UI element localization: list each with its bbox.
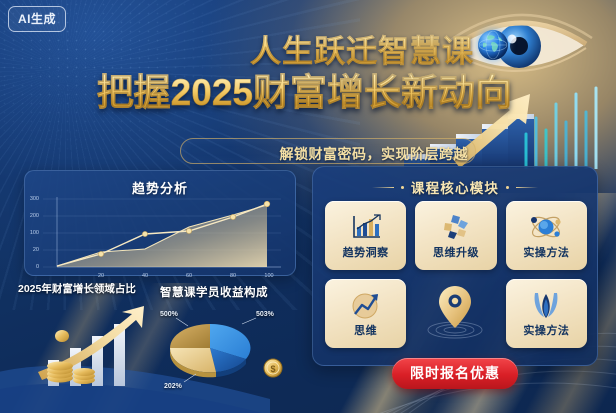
trend-analysis-panel: 趋势分析 <box>24 170 296 276</box>
y-tick-label: 200 <box>30 213 39 219</box>
y-tick-label: 0 <box>36 264 39 270</box>
modules-panel-title: 课程核心模块 <box>411 177 499 197</box>
modules-title-row: 课程核心模块 <box>313 167 597 197</box>
y-tick-label: 100 <box>30 230 39 236</box>
puzzle-pieces-icon <box>439 212 473 242</box>
page-title-line2: 把握2025财富增长新动向 <box>97 62 512 116</box>
left-rule-decoration <box>372 187 394 188</box>
module-label: 思维 <box>354 322 377 338</box>
pie-label-2: 202% <box>164 383 183 390</box>
gold-coin-icon: $ <box>264 359 282 377</box>
x-tick-label: 100 <box>264 273 273 279</box>
module-label: 趋势洞察 <box>343 244 389 260</box>
module-card-trend-insight[interactable]: 趋势洞察 <box>325 201 406 270</box>
module-label: 思维升级 <box>433 244 479 260</box>
map-pin-icon <box>415 278 495 347</box>
module-card-practice-method-2[interactable]: 实操方法 <box>506 279 587 348</box>
poster-canvas: AI生成 <box>0 0 616 413</box>
module-label: 实操方法 <box>523 244 569 260</box>
y-tick-label: 20 <box>33 247 39 253</box>
page-subtitle: 解锁财富密码，实现阶层跨越 <box>280 144 469 164</box>
left-dot-decoration <box>401 186 404 189</box>
x-tick-label: 40 <box>142 273 148 279</box>
module-label: 实操方法 <box>523 322 569 338</box>
pie-chart-title: 智慧课学员收益构成 <box>160 284 268 300</box>
pin-wrap <box>415 278 496 347</box>
trend-line-chart: 300 200 100 20 0 20 40 60 80 100 <box>43 197 281 271</box>
core-modules-panel: 课程核心模块 趋势洞察 <box>312 166 598 366</box>
earnings-pie-chart: 500% 503% 202% $ <box>158 296 298 396</box>
wealth-growth-caption: 2025年财富增长领域占比 <box>18 283 158 296</box>
bar-chart-insight-icon <box>349 212 383 242</box>
svg-text:$: $ <box>270 364 275 374</box>
right-dot-decoration <box>506 186 509 189</box>
pie-label-1: 503% <box>256 311 275 318</box>
x-tick-label: 60 <box>186 273 192 279</box>
headline-group: 人生跃迁智慧课 把握2025财富增长新动向 解锁财富密码，实现阶层跨越 <box>0 16 616 161</box>
gold-coins-bars-icon <box>26 306 166 388</box>
module-card-thinking[interactable]: 思维 <box>325 279 406 348</box>
pie-label-0: 500% <box>160 311 179 318</box>
module-card-mindset-upgrade[interactable]: 思维升级 <box>415 201 496 270</box>
modules-grid: 趋势洞察 思维升级 <box>325 201 587 348</box>
module-card-practice-method-1[interactable]: 实操方法 <box>506 201 587 270</box>
atom-orbit-icon <box>529 212 563 242</box>
right-rule-decoration <box>516 187 538 188</box>
module-card-location-pin <box>415 279 496 348</box>
x-tick-label: 80 <box>230 273 236 279</box>
cta-button[interactable]: 限时报名优惠 <box>392 358 518 389</box>
growth-arrow-icon <box>349 290 383 320</box>
globe-icon <box>478 30 508 60</box>
y-tick-label: 300 <box>30 196 39 202</box>
x-tick-label: 20 <box>98 273 104 279</box>
ai-generated-badge: AI生成 <box>8 6 66 32</box>
trend-panel-title: 趋势分析 <box>25 171 295 197</box>
leaf-bloom-icon <box>529 290 563 320</box>
